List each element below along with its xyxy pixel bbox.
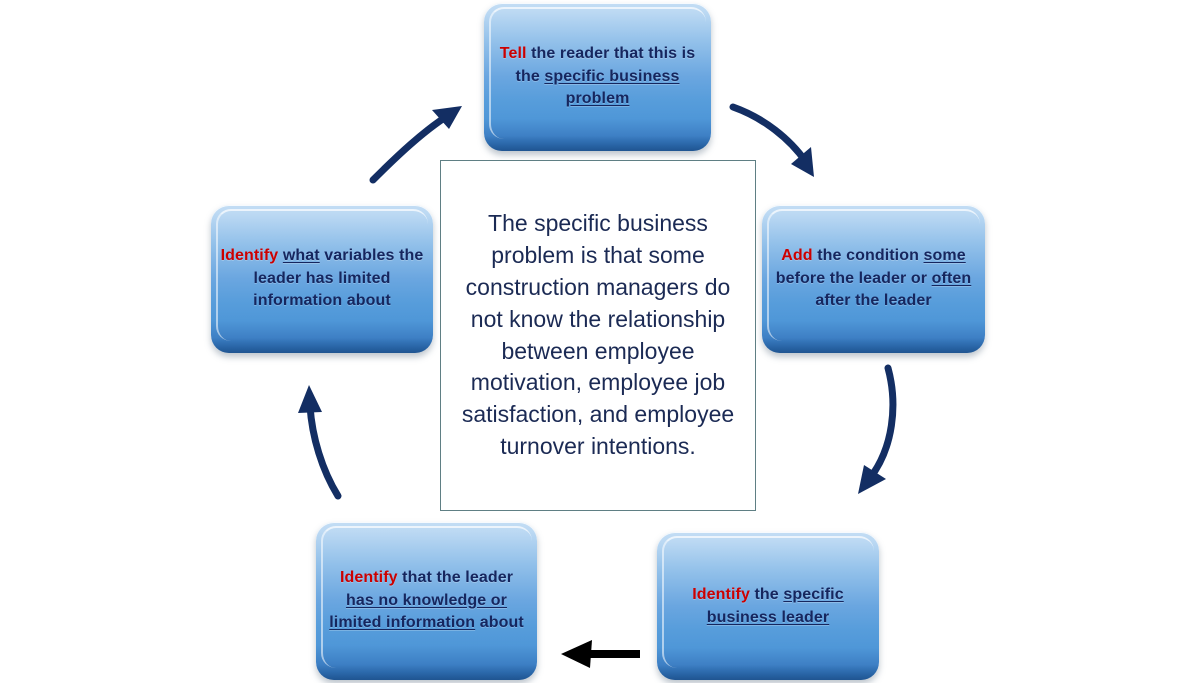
node-identify-no-knowledge-text: Identify that the leader has no knowledg… (316, 567, 537, 635)
arrow-right-to-bottom-right (858, 368, 893, 494)
node-identify-business-leader-text: Identify the specific business leader (657, 583, 879, 630)
center-statement-box: The specific business problem is that so… (440, 160, 756, 511)
node-add-condition[interactable]: Add the condition some before the leader… (762, 205, 985, 353)
arrow-bottom-left-to-left (298, 385, 338, 496)
node-tell-reader[interactable]: Tell the reader that this is the specifi… (484, 3, 711, 151)
node-identify-what-variables[interactable]: Identify what variables the leader has l… (211, 205, 433, 353)
node-tell-reader-text: Tell the reader that this is the specifi… (484, 43, 711, 110)
node-identify-business-leader[interactable]: Identify the specific business leader (657, 532, 879, 680)
node-identify-no-knowledge[interactable]: Identify that the leader has no knowledg… (316, 522, 537, 680)
node-identify-what-variables-text: Identify what variables the leader has l… (211, 245, 433, 312)
center-statement-text: The specific business problem is that so… (441, 208, 755, 464)
node-add-condition-text: Add the condition some before the leader… (762, 245, 985, 312)
arrow-bottom-right-to-bottom-left (561, 640, 640, 668)
diagram-canvas: Tell the reader that this is the specifi… (0, 0, 1194, 683)
